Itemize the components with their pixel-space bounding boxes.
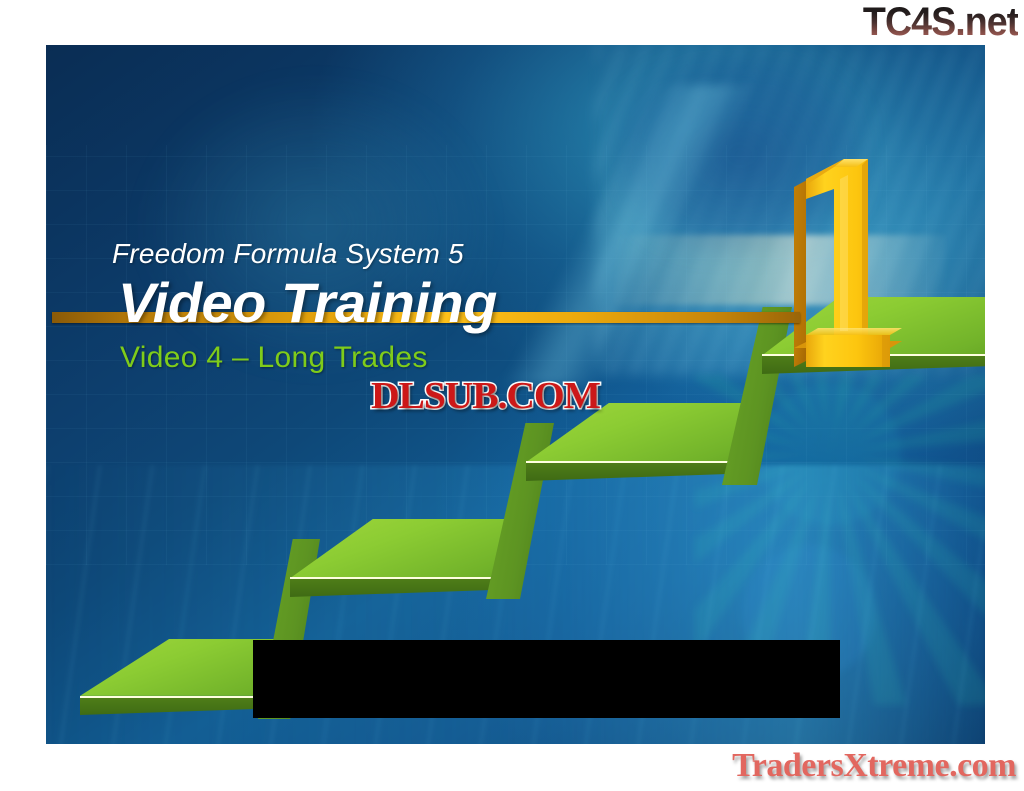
site-logo-tc4s: TC4S.net — [863, 1, 1018, 43]
site-logo-tradersxtreme: TradersXtreme.com — [732, 747, 1016, 785]
black-redaction-box — [253, 640, 840, 718]
numeral-one-icon — [786, 145, 916, 371]
dlsub-watermark: DLSUB.COM — [371, 374, 600, 418]
numeral-one-graphic — [786, 145, 916, 371]
slide-video-label: Video 4 – Long Trades — [120, 341, 428, 375]
presentation-slide: Freedom Formula System 5 Video Training … — [46, 45, 985, 744]
slide-eyebrow-text: Freedom Formula System 5 — [112, 238, 464, 270]
slide-title: Video Training — [118, 270, 497, 335]
